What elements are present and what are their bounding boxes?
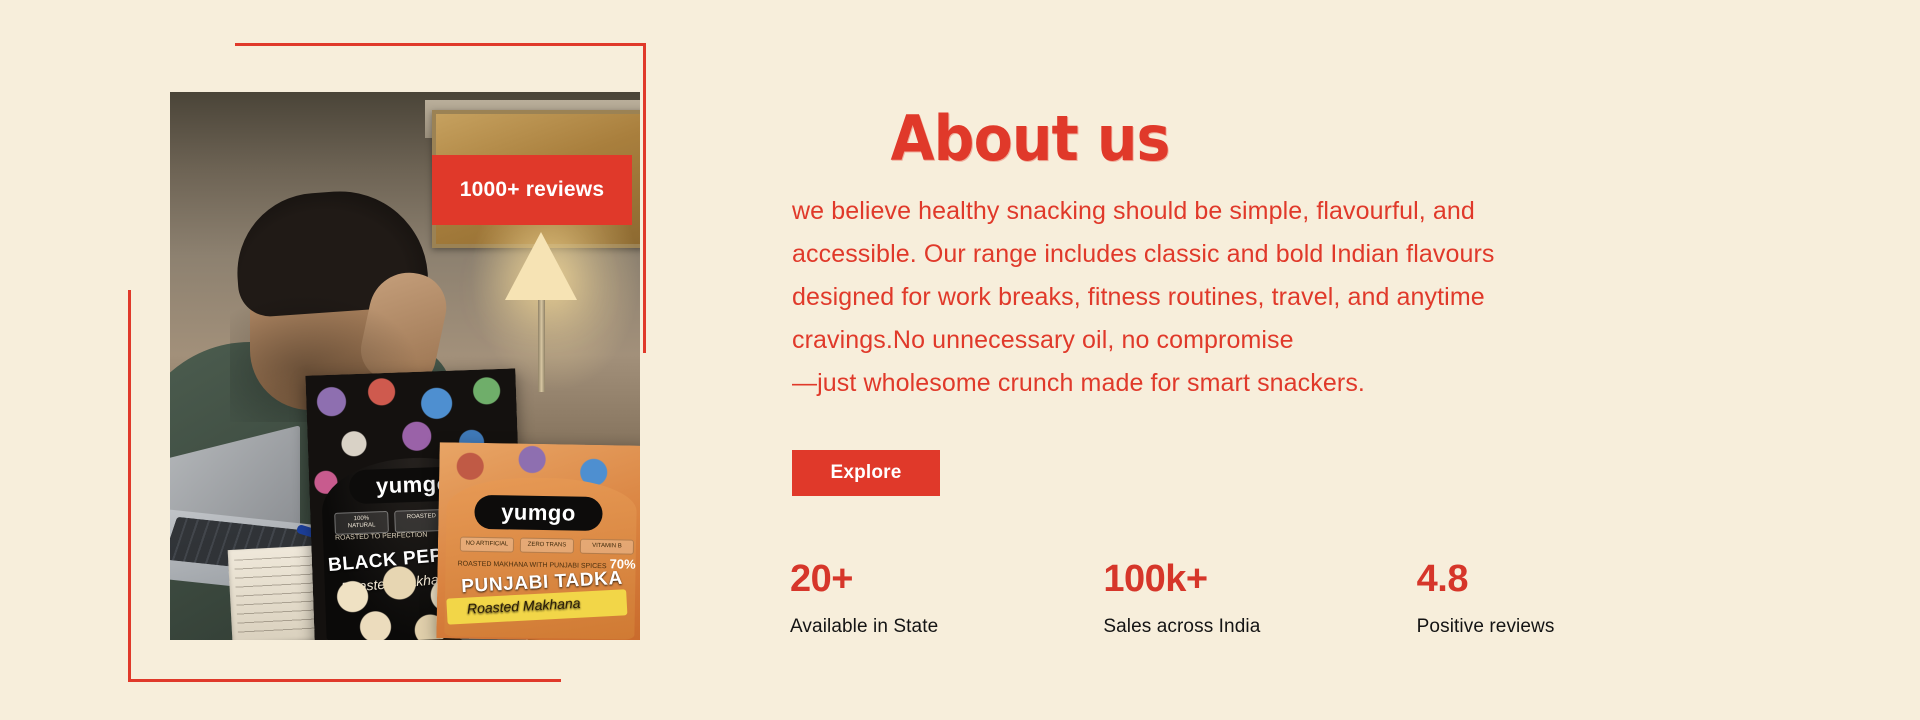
packet-claim-badge: 100% NATURAL xyxy=(334,511,389,535)
reviews-badge: 1000+ reviews xyxy=(432,155,632,225)
stat-value: 100k+ xyxy=(1103,560,1416,598)
lamp-stem xyxy=(538,300,545,392)
paragraph-line: accessible. Our range includes classic a… xyxy=(792,233,1632,276)
stats-row: 20+ Available in State 100k+ Sales acros… xyxy=(790,560,1730,638)
about-content: About us we believe healthy snacking sho… xyxy=(790,0,1790,720)
explore-button[interactable]: Explore xyxy=(792,450,940,496)
paragraph-line: cravings.No unnecessary oil, no compromi… xyxy=(792,319,1632,362)
page-title: About us xyxy=(809,102,1251,175)
stat-item: 20+ Available in State xyxy=(790,560,1103,638)
paragraph-line: we believe healthy snacking should be si… xyxy=(792,190,1632,233)
about-paragraph: we believe healthy snacking should be si… xyxy=(792,190,1632,405)
stat-label: Positive reviews xyxy=(1417,616,1730,638)
stat-value: 20+ xyxy=(790,560,1103,598)
lamp-shade-icon xyxy=(505,232,577,300)
paragraph-line: designed for work breaks, fitness routin… xyxy=(792,276,1632,319)
stat-item: 100k+ Sales across India xyxy=(1103,560,1416,638)
stat-label: Available in State xyxy=(790,616,1103,638)
brand-logo-yumgo: yumgo xyxy=(474,495,603,531)
packet-claim-badges: NO ARTIFICIAL ZERO TRANS VITAMIN B xyxy=(460,537,634,555)
packet-claim-badge: ZERO TRANS xyxy=(520,538,574,554)
paragraph-line: —just wholesome crunch made for smart sn… xyxy=(792,362,1632,405)
packet-claim-badge: VITAMIN B xyxy=(580,539,634,555)
product-packet-punjabi-tadka: yumgo NO ARTIFICIAL ZERO TRANS VITAMIN B… xyxy=(436,442,640,640)
packet-claim-badge: NO ARTIFICIAL xyxy=(460,537,514,553)
stat-value: 4.8 xyxy=(1417,560,1730,598)
stat-label: Sales across India xyxy=(1103,616,1416,638)
about-us-section: yumgo 100% NATURAL ROASTED 70 GRAMS ROAS… xyxy=(0,0,1920,720)
stat-item: 4.8 Positive reviews xyxy=(1417,560,1730,638)
